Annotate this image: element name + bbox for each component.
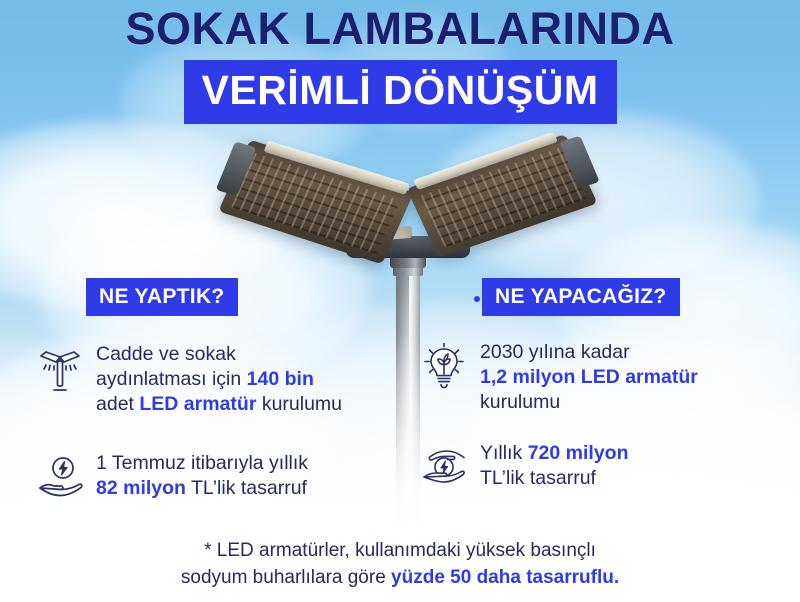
lamp-text-line3-pre: adet [96, 393, 139, 415]
saving-text-post: TL’lik tasarruf [186, 477, 307, 499]
list-item-text: Yıllık 720 milyon TL’lik tasarruf [480, 439, 628, 491]
annual-saving-highlight: 720 milyon [528, 442, 629, 464]
section-what-we-did: NE YAPTIK? Cadde ve sokak aydınlatması i… [28, 278, 388, 505]
poster-title: SOKAK LAMBALARINDA VERİMLİ DÖNÜŞÜM [0, 6, 800, 124]
bulb-text-line1: 2030 yılına kadar [480, 341, 630, 363]
bulb-text-highlight: 1,2 milyon LED armatür [480, 366, 698, 388]
lamp-text-line3-highlight: LED armatür [139, 393, 256, 415]
section-heading-right: NE YAPACAĞIZ? [482, 278, 680, 316]
section-what-we-will-do: NE YAPACAĞIZ? 2030 yılına kadar 1,2 mily… [412, 278, 772, 495]
lamp-text-line3-post: kurulumu [256, 393, 342, 415]
led-array-right [420, 146, 586, 247]
annual-saving-line2: TL’lik tasarruf [480, 467, 596, 489]
list-item-text: 2030 yılına kadar 1,2 milyon LED armatür… [480, 338, 698, 415]
annual-saving-pre: Yıllık [480, 442, 528, 464]
hands-saving-icon [418, 439, 470, 495]
lamp-head-right [406, 134, 597, 258]
lamp-head-left [218, 140, 413, 265]
section-heading-left: NE YAPTIK? [86, 278, 238, 316]
footnote-line2-pre: sodyum buharlılara göre [181, 567, 391, 588]
footnote: * LED armatürler, kullanımdaki yüksek ba… [0, 538, 800, 592]
bulb-text-line3: kurulumu [480, 391, 560, 413]
hand-energy-icon [34, 449, 86, 505]
title-line-2-wrapper: VERİMLİ DÖNÜŞÜM [0, 60, 800, 124]
led-array-left [231, 153, 401, 255]
saving-text-highlight: 82 milyon [96, 477, 186, 499]
list-item: 1 Temmuz itibarıyla yıllık 82 milyon TL’… [28, 449, 388, 505]
title-line-2-badge: VERİMLİ DÖNÜŞÜM [184, 60, 617, 124]
list-item: 2030 yılına kadar 1,2 milyon LED armatür… [412, 338, 772, 415]
footnote-line1: * LED armatürler, kullanımdaki yüksek ba… [204, 540, 596, 561]
list-item-text: 1 Temmuz itibarıyla yıllık 82 milyon TL’… [96, 449, 308, 501]
infographic-poster: SOKAK LAMBALARINDA VERİMLİ DÖNÜŞÜM NE YA… [0, 0, 800, 602]
lamp-text-line2-pre: aydınlatması için [96, 368, 247, 390]
title-line-1: SOKAK LAMBALARINDA [0, 6, 800, 52]
eco-lightbulb-icon [418, 338, 470, 394]
list-item-text: Cadde ve sokak aydınlatması için 140 bin… [96, 340, 342, 417]
saving-text-line1: 1 Temmuz itibarıyla yıllık [96, 452, 308, 474]
bullet-dot-icon [474, 296, 480, 302]
footnote-line2-highlight: yüzde 50 daha tasarruflu. [391, 567, 619, 588]
street-lamp-icon [34, 340, 86, 396]
list-item: Cadde ve sokak aydınlatması için 140 bin… [28, 340, 388, 417]
list-item: Yıllık 720 milyon TL’lik tasarruf [412, 439, 772, 495]
lamp-text-line1: Cadde ve sokak [96, 343, 236, 365]
lamp-text-line2-highlight: 140 bin [247, 368, 314, 390]
